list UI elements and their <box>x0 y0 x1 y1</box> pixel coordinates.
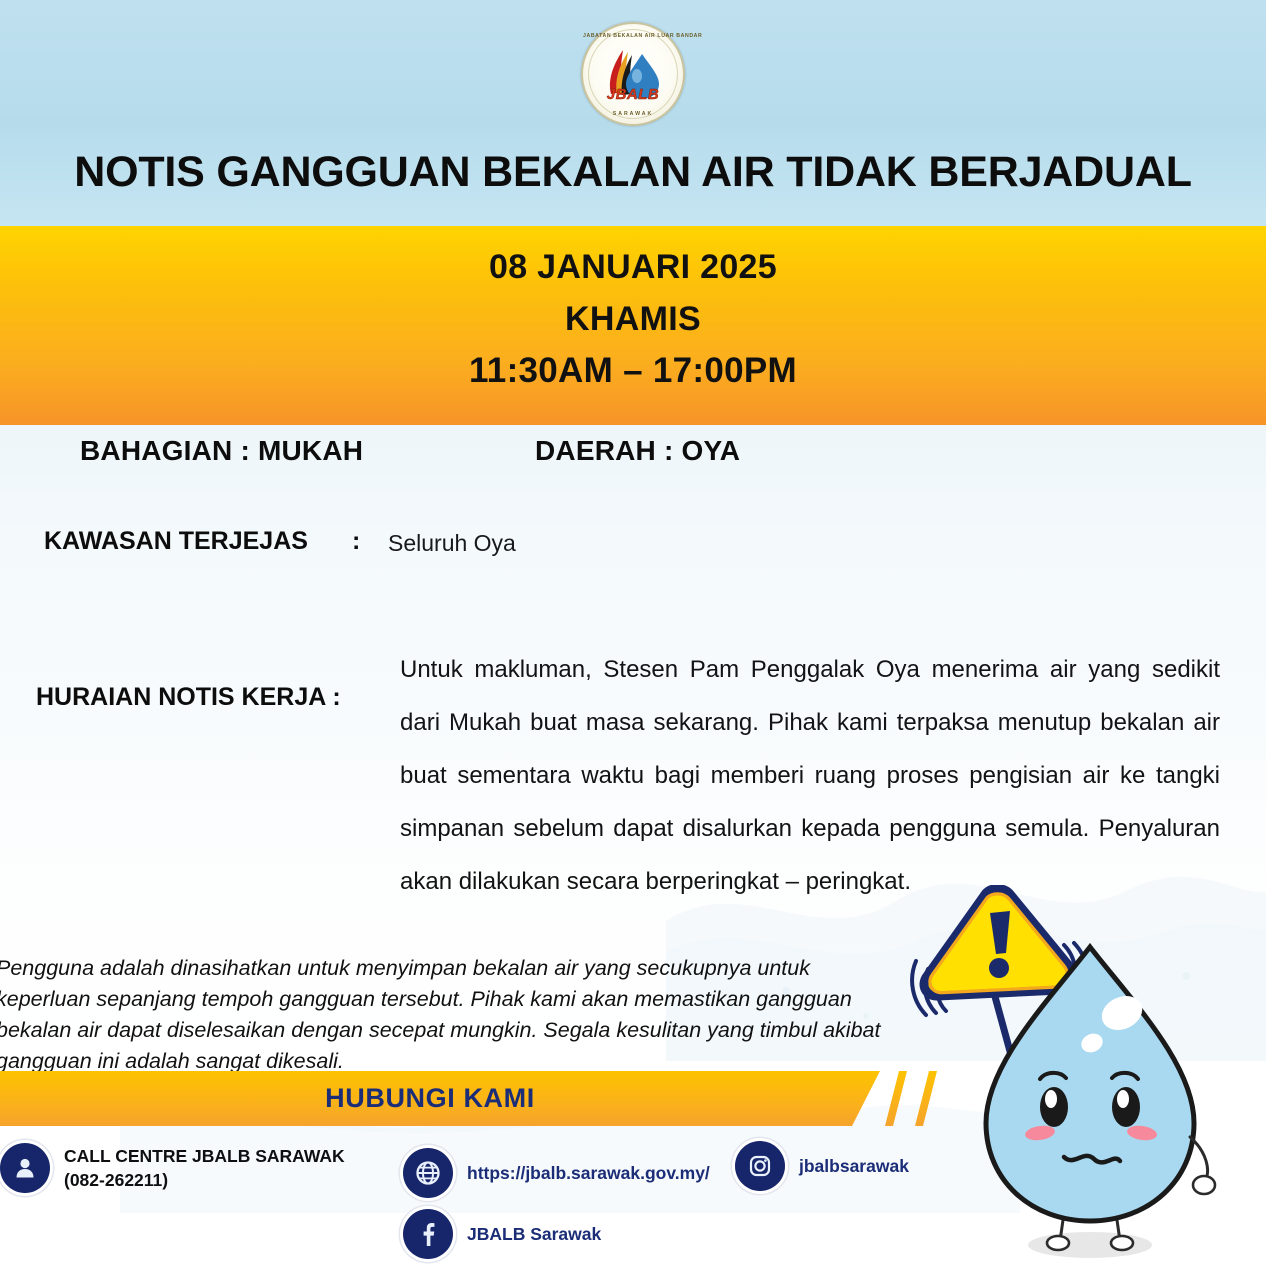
instagram-icon <box>735 1141 785 1191</box>
jbalb-sarawak-logo: JABATAN BEKALAN AIR LUAR BANDAR JBALB SA… <box>581 22 685 126</box>
kawasan-terjejas-value: Seluruh Oya <box>388 530 516 557</box>
huraian-notis-kerja-label: HURAIAN NOTIS KERJA : <box>36 683 341 712</box>
band-stripe-2 <box>915 1071 937 1126</box>
notice-date: 08 JANUARI 2025 <box>0 241 1266 293</box>
daerah-label: DAERAH : OYA <box>535 435 740 467</box>
website-url[interactable]: https://jbalb.sarawak.gov.my/ <box>467 1161 710 1185</box>
call-centre-number: (082-262211) <box>64 1168 345 1192</box>
notice-time-range: 11:30AM – 17:00PM <box>0 345 1266 397</box>
advisory-text: Pengguna adalah dinasihatkan untuk menyi… <box>0 953 886 1071</box>
contact-instagram[interactable]: jbalbsarawak <box>735 1141 909 1191</box>
instagram-handle[interactable]: jbalbsarawak <box>799 1154 909 1178</box>
person-icon <box>0 1143 50 1193</box>
footer-area: HUBUNGI KAMI CALL CENTRE JBALB SARAWAK (… <box>0 1071 1266 1271</box>
contact-facebook[interactable]: JBALB Sarawak <box>403 1209 601 1259</box>
page-title: NOTIS GANGGUAN BEKALAN AIR TIDAK BERJADU… <box>0 148 1266 197</box>
kawasan-colon: : <box>352 527 360 556</box>
bahagian-label: BAHAGIAN : MUKAH <box>80 435 363 467</box>
band-stripe-1 <box>885 1071 907 1126</box>
notice-poster: JABATAN BEKALAN AIR LUAR BANDAR JBALB SA… <box>0 0 1266 1271</box>
huraian-notis-kerja-body: Untuk makluman, Stesen Pam Penggalak Oya… <box>400 643 1220 908</box>
facebook-icon <box>403 1209 453 1259</box>
date-band: 08 JANUARI 2025 KHAMIS 11:30AM – 17:00PM <box>0 226 1266 425</box>
kawasan-terjejas-label: KAWASAN TERJEJAS <box>44 527 308 556</box>
logo-arc-bottom-text: SARAWAK <box>583 111 683 117</box>
contact-website[interactable]: https://jbalb.sarawak.gov.my/ <box>403 1148 710 1198</box>
contact-call-centre[interactable]: CALL CENTRE JBALB SARAWAK (082-262211) <box>0 1143 345 1193</box>
hubungi-kami-title: HUBUNGI KAMI <box>0 1083 860 1114</box>
globe-icon <box>403 1148 453 1198</box>
facebook-page-name[interactable]: JBALB Sarawak <box>467 1222 601 1246</box>
header-band: JABATAN BEKALAN AIR LUAR BANDAR JBALB SA… <box>0 0 1266 226</box>
notice-day: KHAMIS <box>0 293 1266 345</box>
body-area: BAHAGIAN : MUKAH DAERAH : OYA KAWASAN TE… <box>0 425 1266 1071</box>
logo-wordmark: JBALB <box>607 86 660 103</box>
call-centre-name: CALL CENTRE JBALB SARAWAK <box>64 1144 345 1168</box>
